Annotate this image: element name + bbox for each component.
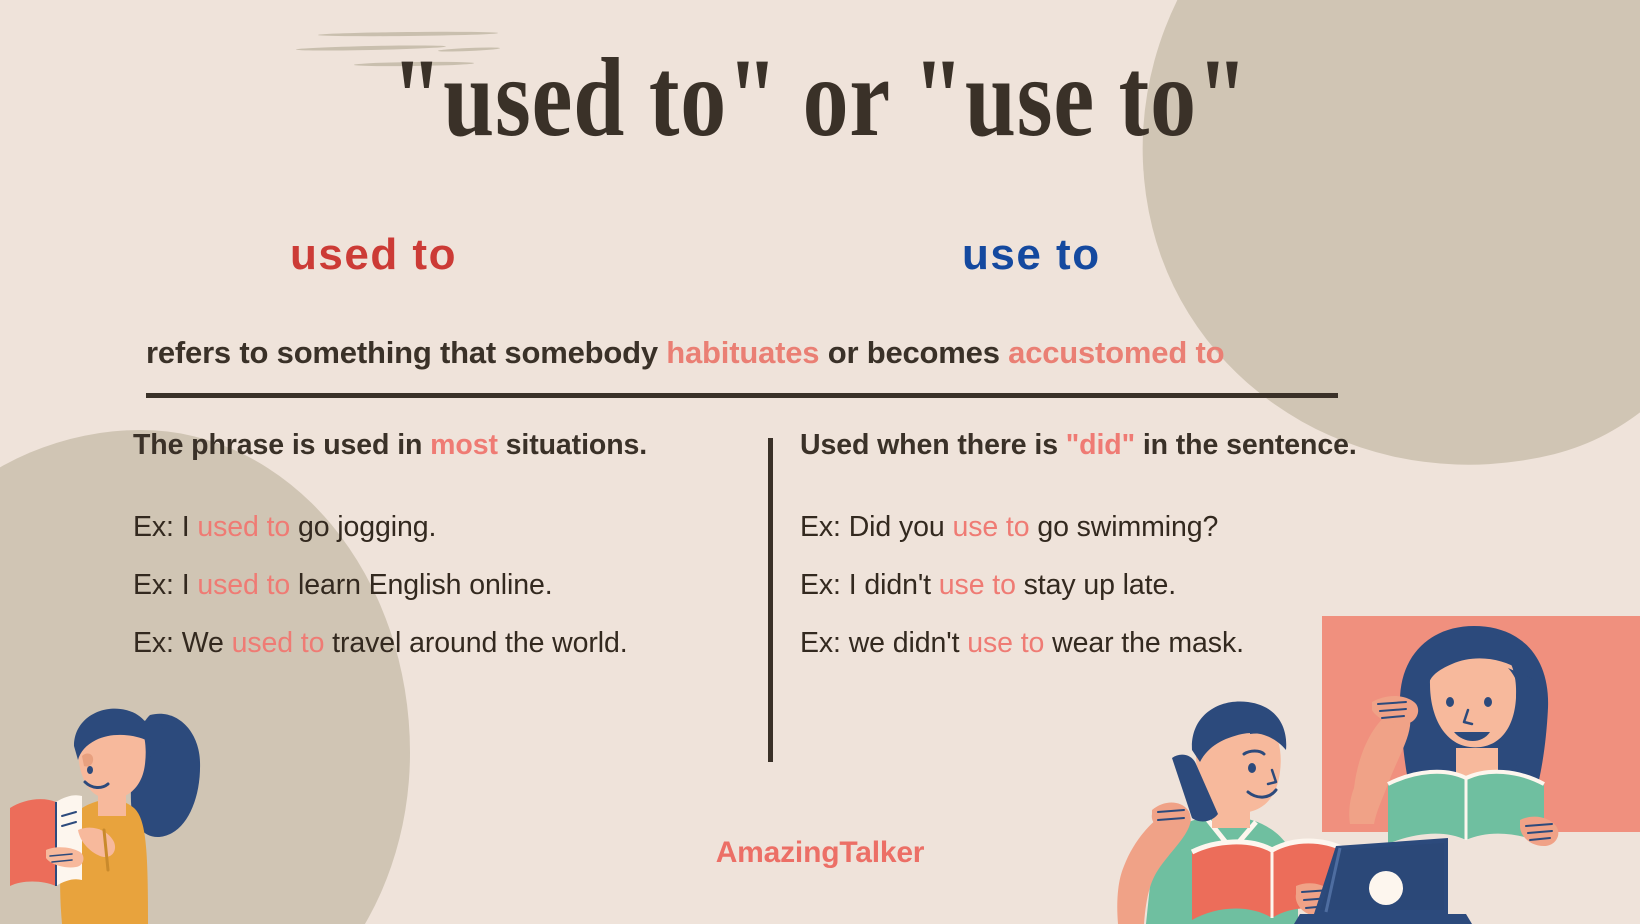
definition-text: refers to something that somebody habitu… [146, 334, 1342, 371]
example-prefix: Ex: I [133, 511, 197, 543]
example-suffix: travel around the world. [324, 627, 627, 659]
example-prefix: Ex: I [133, 569, 197, 601]
example-suffix: go swimming? [1030, 511, 1219, 543]
left-examples-list: Ex: I used to go jogging. Ex: I used to … [133, 512, 748, 660]
list-item: Ex: we didn't use to wear the mask. [800, 628, 1360, 659]
infographic-canvas: "used to" or "use to" used to use to ref… [0, 0, 1640, 924]
horizontal-divider [146, 393, 1338, 398]
heading-use-to: use to [962, 233, 1101, 277]
definition-highlight-habituates: habituates [666, 335, 819, 370]
example-highlight: used to [197, 569, 290, 601]
example-highlight: use to [939, 569, 1016, 601]
list-item: Ex: Did you use to go swimming? [800, 512, 1360, 543]
right-column-rule: Used when there is "did" in the sentence… [800, 428, 1360, 464]
definition-part-1: refers to something that somebody [146, 335, 666, 370]
right-rule-highlight: "did" [1066, 429, 1135, 461]
girl-reading-book-illustration [0, 690, 250, 924]
example-highlight: used to [197, 511, 290, 543]
example-suffix: go jogging. [290, 511, 436, 543]
list-item: Ex: I used to learn English online. [133, 570, 748, 601]
left-rule-part-2: situations. [498, 429, 647, 461]
right-rule-part-1: Used when there is [800, 429, 1066, 461]
vertical-divider [768, 438, 773, 762]
right-rule-part-2: in the sentence. [1135, 429, 1357, 461]
right-examples-list: Ex: Did you use to go swimming? Ex: I di… [800, 512, 1360, 660]
example-highlight: used to [232, 627, 325, 659]
definition-highlight-accustomed-to: accustomed to [1008, 335, 1224, 370]
example-suffix: stay up late. [1016, 569, 1176, 601]
heading-used-to: used to [290, 233, 457, 277]
example-prefix: Ex: We [133, 627, 232, 659]
example-suffix: learn English online. [290, 569, 552, 601]
column-use-to: Used when there is "did" in the sentence… [800, 428, 1360, 687]
example-prefix: Ex: Did you [800, 511, 952, 543]
example-suffix: wear the mask. [1044, 627, 1244, 659]
salmon-panel [1322, 616, 1640, 832]
column-used-to: The phrase is used in most situations. E… [133, 428, 748, 687]
brand-logo-text: AmazingTalker [0, 836, 1640, 870]
example-highlight: use to [967, 627, 1044, 659]
left-rule-highlight: most [430, 429, 498, 461]
list-item: Ex: I didn't use to stay up late. [800, 570, 1360, 601]
laptop-base [1294, 914, 1472, 924]
list-item: Ex: I used to go jogging. [133, 512, 748, 543]
laptop-logo [1369, 871, 1403, 905]
left-column-rule: The phrase is used in most situations. [133, 428, 748, 464]
example-prefix: Ex: we didn't [800, 627, 967, 659]
example-highlight: use to [952, 511, 1029, 543]
definition-part-2: or becomes [819, 335, 1008, 370]
page-title: "used to" or "use to" [148, 42, 1493, 154]
list-item: Ex: We used to travel around the world. [133, 628, 748, 659]
example-prefix: Ex: I didn't [800, 569, 939, 601]
left-rule-part-1: The phrase is used in [133, 429, 430, 461]
